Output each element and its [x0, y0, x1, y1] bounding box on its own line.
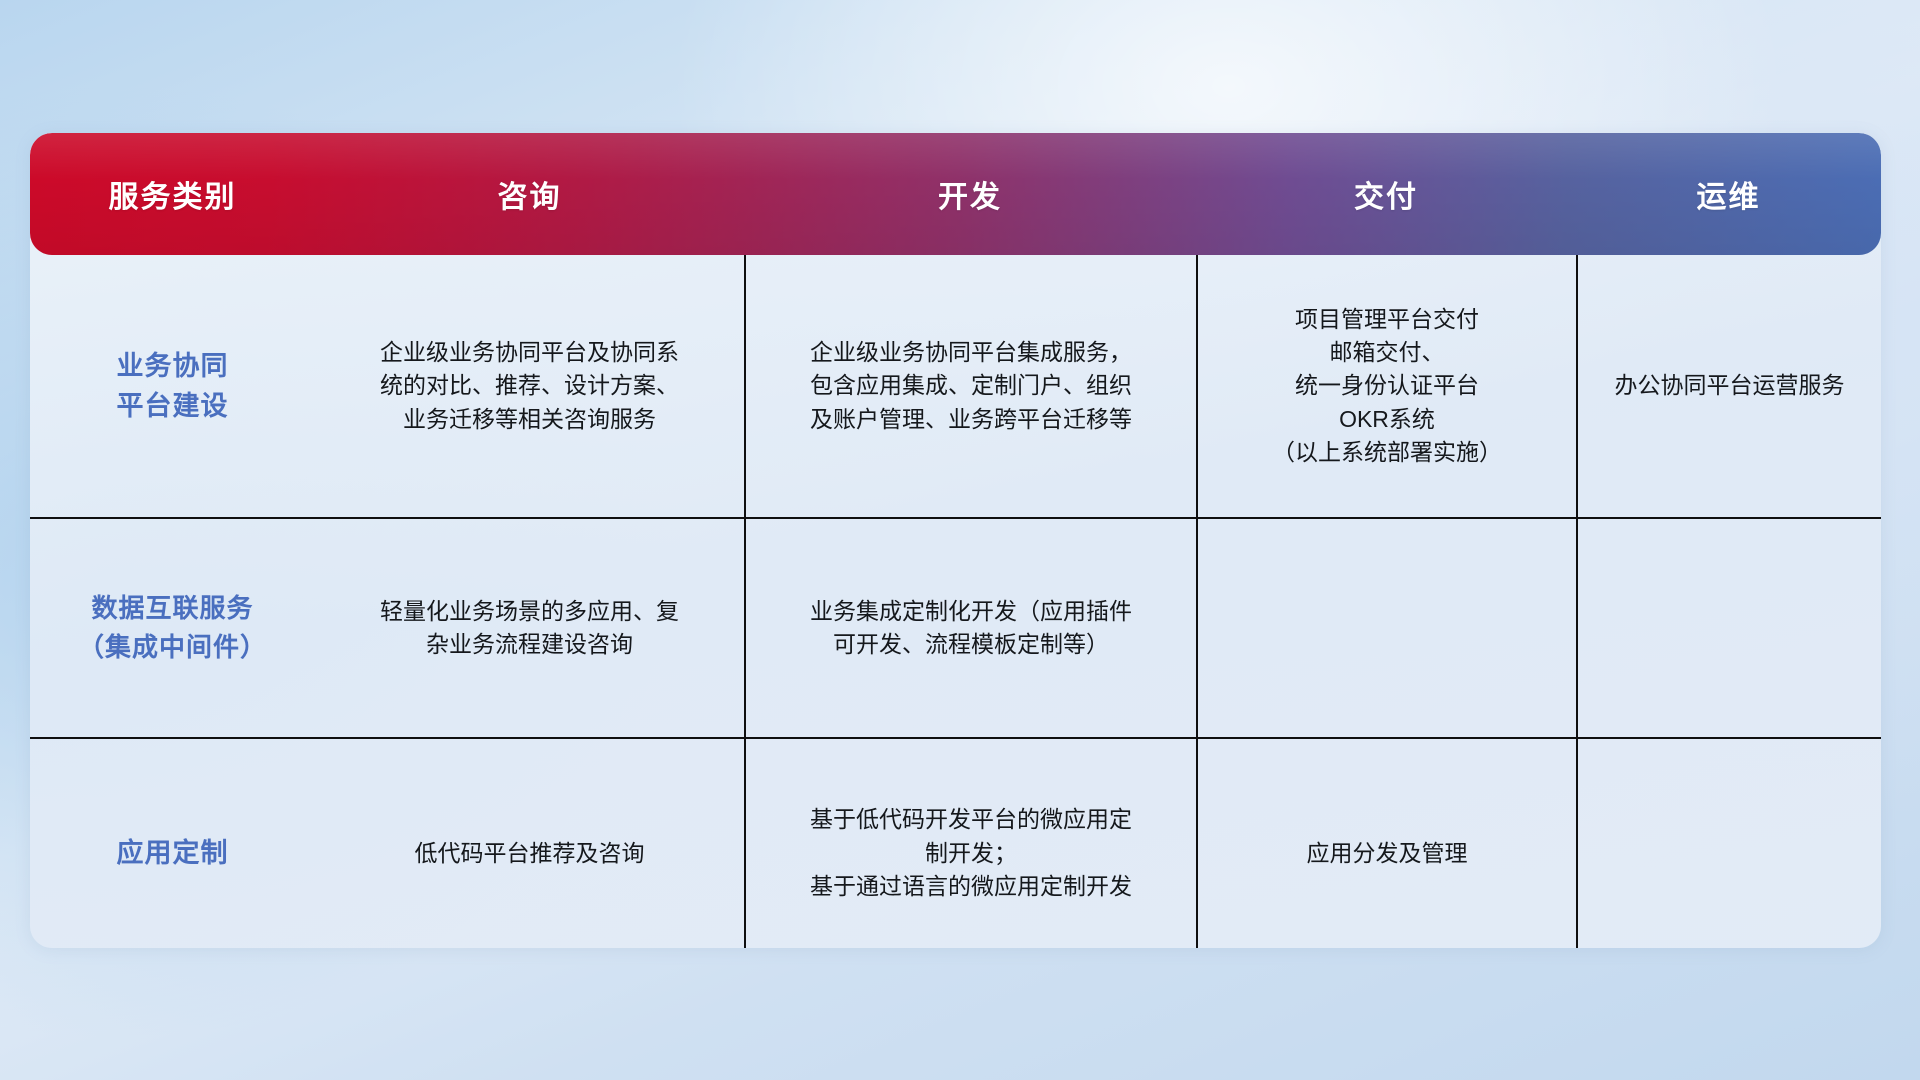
cell-operations: 办公协同平台运营服务 [1576, 255, 1881, 517]
cell-operations [1576, 519, 1881, 737]
table-header-row: 服务类别 咨询 开发 交付 运维 [30, 133, 1881, 255]
cell-delivery: 应用分发及管理 [1196, 739, 1576, 948]
cell-development: 企业级业务协同平台集成服务， 包含应用集成、定制门户、组织 及账户管理、业务跨平… [744, 255, 1196, 517]
cell-development: 基于低代码开发平台的微应用定 制开发； 基于通过语言的微应用定制开发 [744, 739, 1196, 948]
cell-consulting: 低代码平台推荐及咨询 [315, 739, 744, 948]
table-body: 业务协同 平台建设 企业级业务协同平台及协同系 统的对比、推荐、设计方案、 业务… [30, 255, 1881, 948]
table-row: 应用定制 低代码平台推荐及咨询 基于低代码开发平台的微应用定 制开发； 基于通过… [30, 737, 1881, 948]
row-category-label: 业务协同 平台建设 [30, 255, 315, 517]
column-header-service-category: 服务类别 [30, 172, 315, 216]
cell-consulting: 企业级业务协同平台及协同系 统的对比、推荐、设计方案、 业务迁移等相关咨询服务 [315, 255, 744, 517]
cell-operations [1576, 739, 1881, 948]
slide-canvas: 服务类别 咨询 开发 交付 运维 业务协同 平台建设 企业级业务协同平台及协同系… [0, 0, 1920, 1080]
column-header-development: 开发 [744, 172, 1196, 216]
table-row: 数据互联服务 （集成中间件） 轻量化业务场景的多应用、复 杂业务流程建设咨询 业… [30, 517, 1881, 737]
table-row: 业务协同 平台建设 企业级业务协同平台及协同系 统的对比、推荐、设计方案、 业务… [30, 255, 1881, 517]
column-header-operations: 运维 [1576, 172, 1881, 216]
row-category-label: 应用定制 [30, 739, 315, 948]
cell-delivery: 项目管理平台交付 邮箱交付、 统一身份认证平台 OKR系统 （以上系统部署实施） [1196, 255, 1576, 517]
row-category-label: 数据互联服务 （集成中间件） [30, 519, 315, 737]
cell-consulting: 轻量化业务场景的多应用、复 杂业务流程建设咨询 [315, 519, 744, 737]
column-header-consulting: 咨询 [315, 172, 744, 216]
cell-development: 业务集成定制化开发（应用插件 可开发、流程模板定制等） [744, 519, 1196, 737]
column-header-delivery: 交付 [1196, 172, 1576, 216]
cell-delivery [1196, 519, 1576, 737]
services-matrix-table: 服务类别 咨询 开发 交付 运维 业务协同 平台建设 企业级业务协同平台及协同系… [30, 133, 1881, 948]
